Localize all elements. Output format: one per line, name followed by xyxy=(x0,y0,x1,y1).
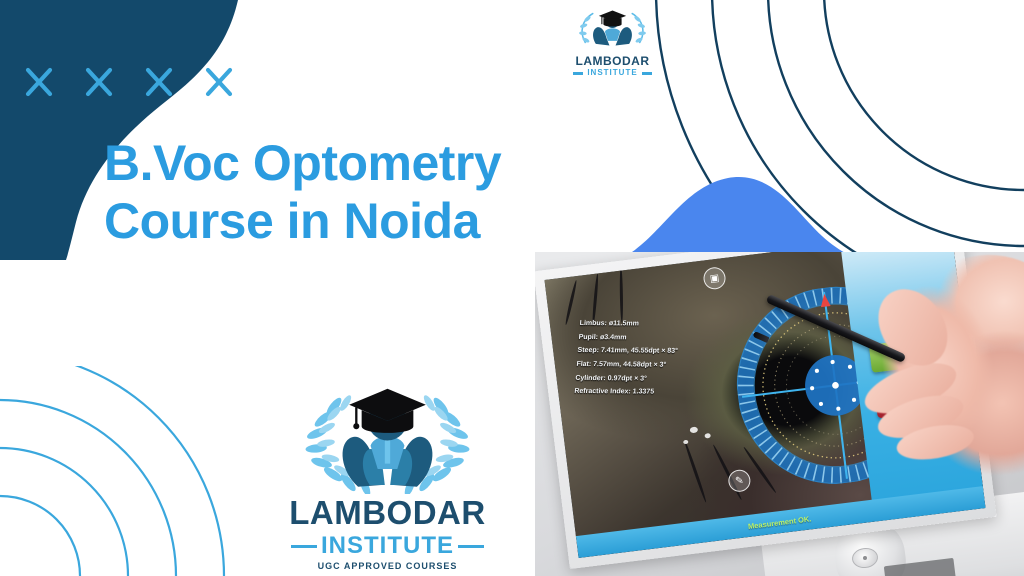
measurement-steep: Steep: 7.41mm, 45.55dpt × 83° xyxy=(577,344,758,359)
logo-name: LAMBODAR xyxy=(285,496,490,529)
headline-line-1: B.Voc Optometry xyxy=(104,134,624,192)
corneal-topographer-photo: FLAT STEEP Limbus: ø11.5mm Pupil: ø3.4mm… xyxy=(535,252,1024,576)
x-mark-icon xyxy=(148,70,170,94)
logo-tagline: UGC APPROVED COURSES xyxy=(285,562,490,571)
logo-rule-left xyxy=(291,545,317,548)
main-logo-wordmark: LAMBODAR INSTITUTE UGC APPROVED COURSES xyxy=(285,496,490,571)
measurement-flat: Flat: 7.57mm, 44.58dpt × 3° xyxy=(576,358,757,373)
logo-rule-right xyxy=(458,545,484,548)
logo-emblem-icon xyxy=(565,6,660,50)
x-mark-icon xyxy=(208,70,230,94)
top-logo-wordmark: LAMBODAR INSTITUTE xyxy=(565,55,660,77)
measurement-limbus: Limbus: ø11.5mm xyxy=(579,317,760,332)
x-marks-decoration xyxy=(22,62,252,102)
top-logo-name: LAMBODAR xyxy=(565,55,660,67)
measurement-readout: Limbus: ø11.5mm Pupil: ø3.4mm Steep: 7.4… xyxy=(574,317,760,400)
x-mark-icon xyxy=(88,70,110,94)
x-mark-icon xyxy=(28,70,50,94)
main-logo: LAMBODAR INSTITUTE UGC APPROVED COURSES xyxy=(285,378,490,553)
top-logo: LAMBODAR INSTITUTE xyxy=(565,6,660,74)
logo-sub: INSTITUTE xyxy=(321,534,454,558)
headline-line-2: Course in Noida xyxy=(104,192,624,250)
logo-rule-right xyxy=(642,72,652,75)
measurement-refractive-index: Refractive Index: 1.3375 xyxy=(574,385,755,400)
status-message: Measurement OK. xyxy=(747,514,811,531)
banner-root: B.Voc Optometry Course in Noida xyxy=(0,0,1024,576)
logo-emblem-icon xyxy=(285,378,490,494)
logo-rule-left xyxy=(573,72,583,75)
concentric-arcs-bottomleft-decoration xyxy=(0,366,230,576)
page-title: B.Voc Optometry Course in Noida xyxy=(104,134,624,250)
top-logo-sub: INSTITUTE xyxy=(587,69,637,77)
device-knob-dot xyxy=(863,556,867,560)
